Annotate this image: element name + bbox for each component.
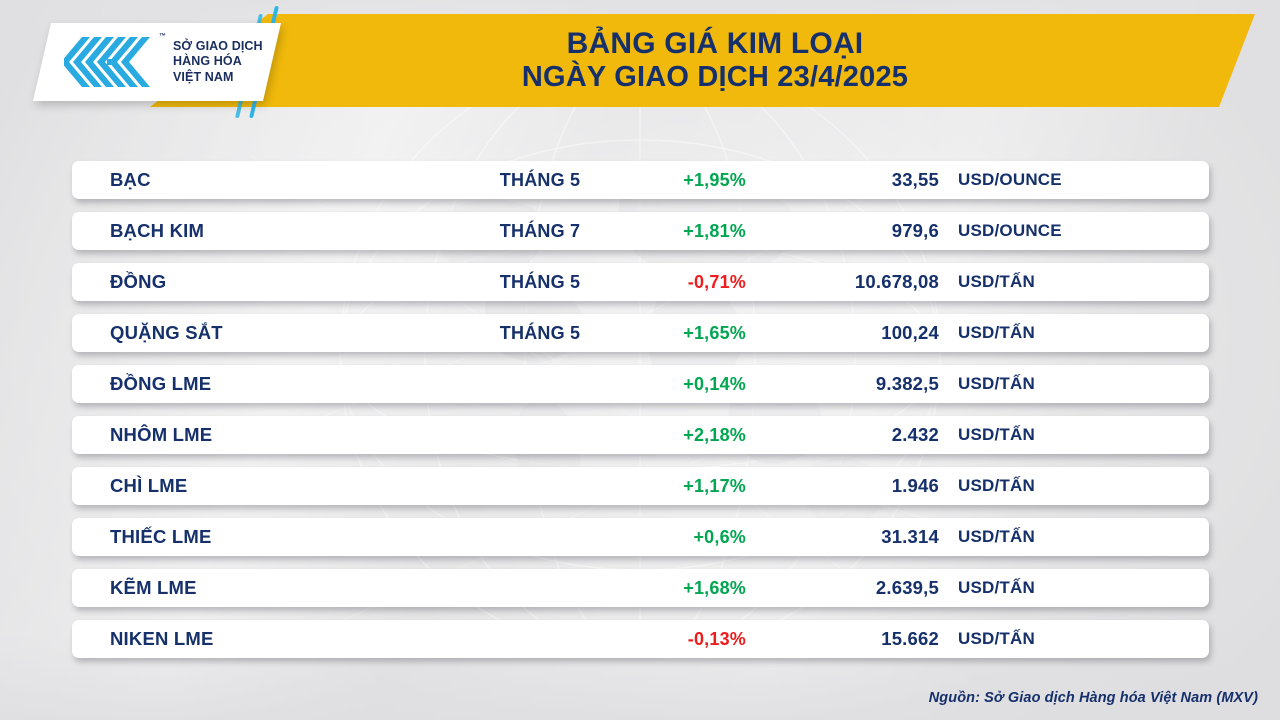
cell-commodity-name: QUẶNG SẮT — [110, 322, 223, 344]
cell-unit: USD/TẤN — [958, 374, 1035, 394]
cell-commodity-name: ĐỒNG — [110, 271, 166, 293]
cell-price: 15.662 — [752, 628, 939, 650]
brand-logo: ™ SỞ GIAO DỊCH HÀNG HÓA VIỆT NAM — [48, 23, 268, 101]
page-title-line2: NGÀY GIAO DỊCH 23/4/2025 — [522, 62, 908, 93]
cell-commodity-name: KẼM LME — [110, 577, 197, 599]
cell-unit: USD/TẤN — [958, 323, 1035, 343]
table-row[interactable]: ĐỒNGTHÁNG 5-0,71%10.678,08USD/TẤN — [72, 263, 1209, 301]
cell-commodity-name: THIẾC LME — [110, 526, 212, 548]
cell-unit: USD/OUNCE — [958, 221, 1062, 241]
cell-percent-change: +0,14% — [576, 374, 746, 395]
cell-unit: USD/TẤN — [958, 629, 1035, 649]
table-row[interactable]: THIẾC LME+0,6%31.314USD/TẤN — [72, 518, 1209, 556]
table-row[interactable]: NHÔM LME+2,18%2.432USD/TẤN — [72, 416, 1209, 454]
table-row[interactable]: BẠCTHÁNG 5+1,95%33,55USD/OUNCE — [72, 161, 1209, 199]
table-row[interactable]: QUẶNG SẮTTHÁNG 5+1,65%100,24USD/TẤN — [72, 314, 1209, 352]
cell-price: 979,6 — [752, 220, 939, 242]
cell-price: 1.946 — [752, 475, 939, 497]
cell-price: 2.432 — [752, 424, 939, 446]
cell-price: 2.639,5 — [752, 577, 939, 599]
page-title-line1: BẢNG GIÁ KIM LOẠI — [567, 28, 864, 60]
mxv-maze-logo-icon — [64, 37, 156, 87]
cell-percent-change: +1,81% — [576, 221, 746, 242]
cell-percent-change: -0,71% — [576, 272, 746, 293]
cell-unit: USD/TẤN — [958, 578, 1035, 598]
page-title: BẢNG GIÁ KIM LOẠI NGÀY GIAO DỊCH 23/4/20… — [250, 14, 1180, 107]
cell-commodity-name: ĐỒNG LME — [110, 373, 211, 395]
source-note: Nguồn: Sở Giao dịch Hàng hóa Việt Nam (M… — [929, 690, 1258, 706]
cell-commodity-name: BẠCH KIM — [110, 220, 204, 242]
cell-unit: USD/TẤN — [958, 527, 1035, 547]
cell-percent-change: +1,65% — [576, 323, 746, 344]
metal-price-table: BẠCTHÁNG 5+1,95%33,55USD/OUNCEBẠCH KIMTH… — [72, 161, 1209, 658]
trademark-symbol: ™ — [159, 33, 166, 40]
cell-price: 100,24 — [752, 322, 939, 344]
cell-commodity-name: NHÔM LME — [110, 424, 212, 446]
cell-commodity-name: BẠC — [110, 169, 151, 191]
table-row[interactable]: BẠCH KIMTHÁNG 7+1,81%979,6USD/OUNCE — [72, 212, 1209, 250]
table-row[interactable]: KẼM LME+1,68%2.639,5USD/TẤN — [72, 569, 1209, 607]
table-row[interactable]: CHÌ LME+1,17%1.946USD/TẤN — [72, 467, 1209, 505]
cell-unit: USD/TẤN — [958, 425, 1035, 445]
table-row[interactable]: NIKEN LME-0,13%15.662USD/TẤN — [72, 620, 1209, 658]
cell-price: 9.382,5 — [752, 373, 939, 395]
cell-price: 31.314 — [752, 526, 939, 548]
cell-percent-change: +0,6% — [576, 527, 746, 548]
cell-commodity-name: NIKEN LME — [110, 628, 214, 650]
cell-percent-change: +1,68% — [576, 578, 746, 599]
cell-commodity-name: CHÌ LME — [110, 475, 187, 497]
page-header: ™ SỞ GIAO DỊCH HÀNG HÓA VIỆT NAM BẢNG GI… — [0, 0, 1280, 121]
table-row[interactable]: ĐỒNG LME+0,14%9.382,5USD/TẤN — [72, 365, 1209, 403]
cell-percent-change: -0,13% — [576, 629, 746, 650]
cell-unit: USD/OUNCE — [958, 170, 1062, 190]
cell-unit: USD/TẤN — [958, 272, 1035, 292]
cell-percent-change: +1,17% — [576, 476, 746, 497]
cell-percent-change: +2,18% — [576, 425, 746, 446]
cell-price: 10.678,08 — [752, 271, 939, 293]
cell-price: 33,55 — [752, 169, 939, 191]
cell-percent-change: +1,95% — [576, 170, 746, 191]
cell-unit: USD/TẤN — [958, 476, 1035, 496]
